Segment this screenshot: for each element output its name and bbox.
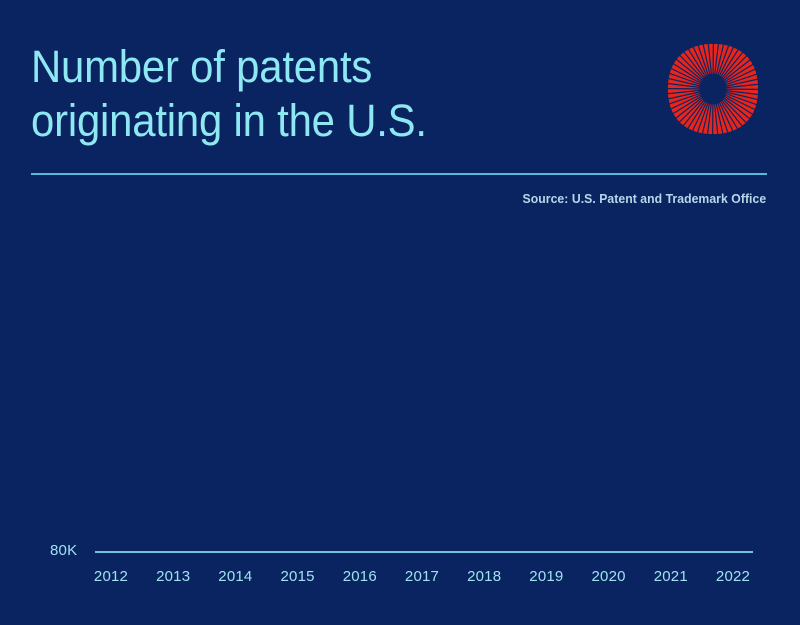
page-title: Number of patents originating in the U.S… bbox=[31, 40, 598, 148]
x-axis-tick-labels: 2012201320142015201620172018201920202021… bbox=[80, 568, 786, 590]
x-axis-tick-2021: 2021 bbox=[641, 568, 701, 585]
x-axis-tick-2016: 2016 bbox=[330, 568, 390, 585]
header-divider bbox=[31, 173, 767, 175]
y-axis-gridline bbox=[95, 551, 753, 553]
patents-chart-graphic: Number of patents originating in the U.S… bbox=[0, 0, 800, 625]
plot-area bbox=[95, 215, 753, 552]
source-note: Source: U.S. Patent and Trademark Office bbox=[522, 191, 766, 206]
x-axis-tick-2013: 2013 bbox=[143, 568, 203, 585]
x-axis-tick-2018: 2018 bbox=[454, 568, 514, 585]
x-axis-tick-2022: 2022 bbox=[703, 568, 763, 585]
x-axis-tick-2012: 2012 bbox=[81, 568, 141, 585]
radial-sunburst-logo bbox=[666, 41, 760, 137]
x-axis-tick-2019: 2019 bbox=[516, 568, 576, 585]
x-axis-tick-2015: 2015 bbox=[268, 568, 328, 585]
x-axis-tick-2020: 2020 bbox=[579, 568, 639, 585]
x-axis-tick-2014: 2014 bbox=[205, 568, 265, 585]
y-axis-tick-label: 80K bbox=[50, 542, 77, 559]
x-axis-tick-2017: 2017 bbox=[392, 568, 452, 585]
chart-header: Number of patents originating in the U.S… bbox=[0, 0, 800, 220]
